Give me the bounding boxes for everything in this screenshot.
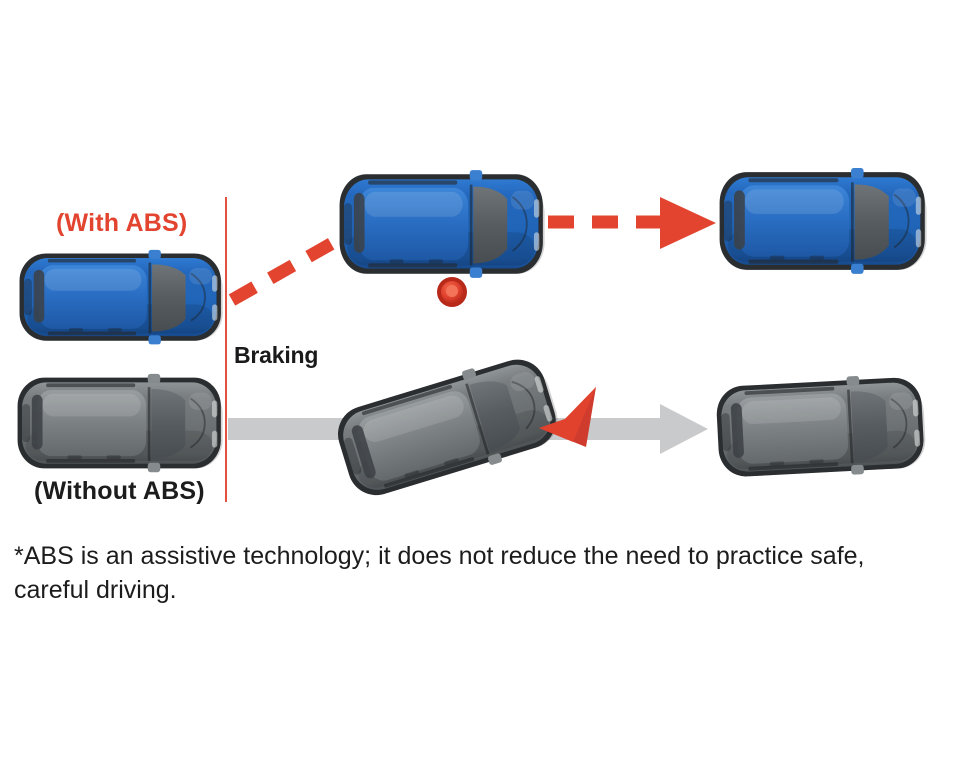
- blue-car-middle: [340, 170, 545, 278]
- with-abs-label: (With ABS): [56, 209, 187, 238]
- diagram-canvas: (With ABS) (Without ABS) Braking *ABS is…: [0, 0, 968, 760]
- without-abs-label: (Without ABS): [34, 477, 205, 506]
- abs-comparison-illustration: [0, 0, 968, 760]
- gray-car-start: [18, 374, 223, 472]
- gray-car-middle-skidding: [330, 348, 566, 505]
- blue-car-start: [20, 250, 223, 345]
- footnote-text: *ABS is an assistive technology; it does…: [14, 540, 944, 607]
- gray-car-end: [715, 373, 927, 482]
- blue-car-end: [720, 168, 927, 274]
- obstacle-marker: [437, 277, 467, 307]
- braking-point-divider: [225, 197, 227, 502]
- braking-label: Braking: [234, 342, 318, 369]
